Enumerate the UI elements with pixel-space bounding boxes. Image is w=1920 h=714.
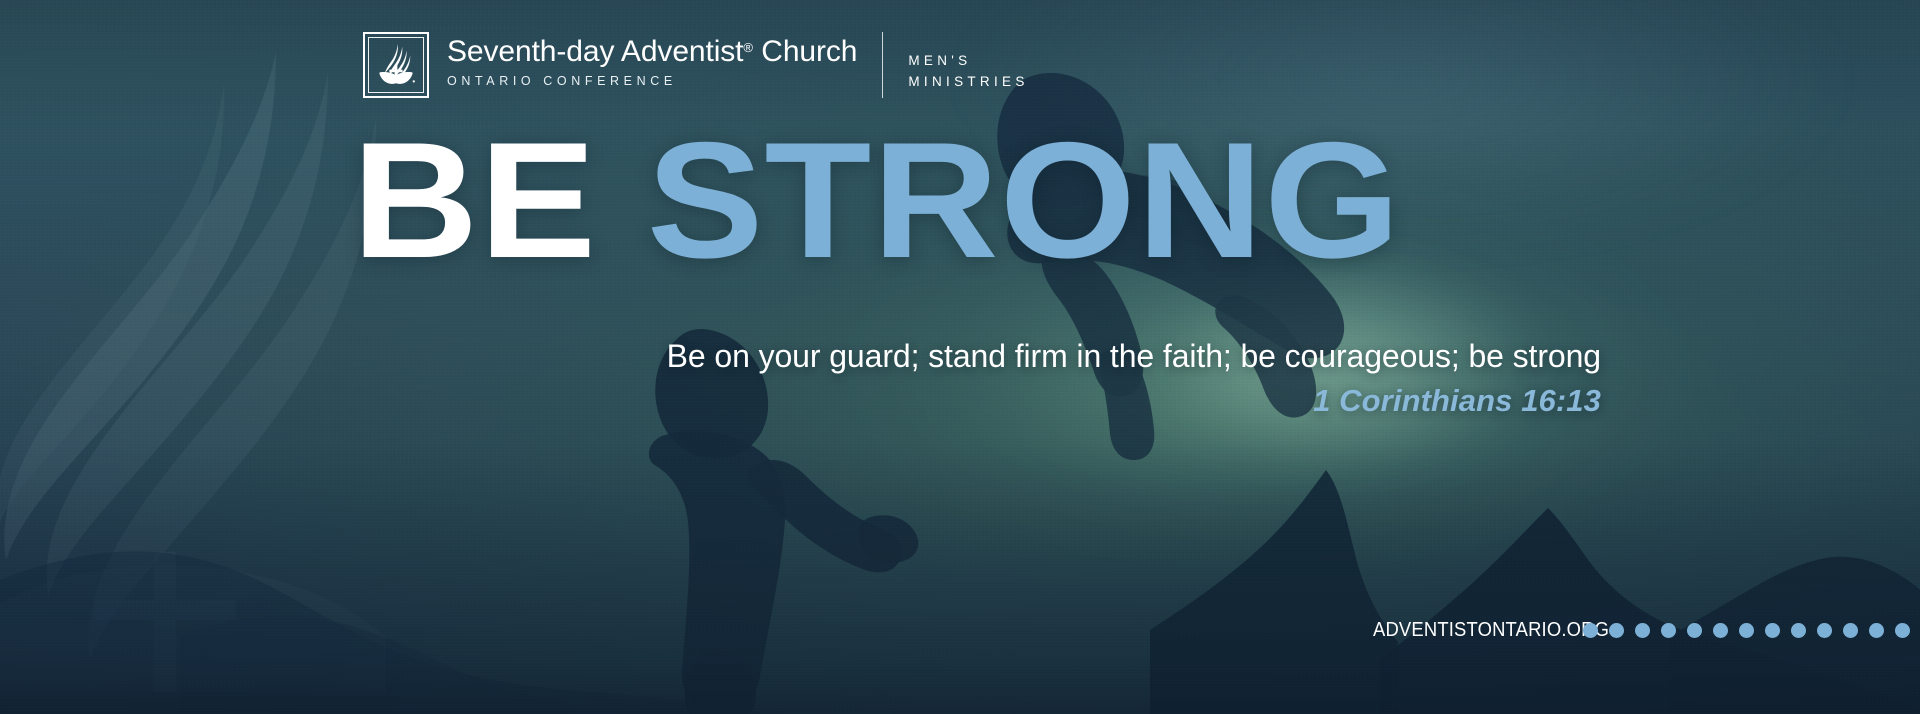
decorative-dot bbox=[1583, 623, 1598, 638]
scripture-reference: 1 Corinthians 16:13 bbox=[0, 383, 1601, 419]
decorative-dot bbox=[1895, 623, 1910, 638]
decorative-dot bbox=[1687, 623, 1702, 638]
banner-content: Seventh-day Adventist® Church ONTARIO CO… bbox=[0, 0, 1920, 714]
decorative-dot bbox=[1843, 623, 1858, 638]
logo-title-suffix: Church bbox=[761, 35, 857, 68]
page-title: BE STRONG bbox=[352, 118, 1401, 283]
website-url[interactable]: ADVENTISTONTARIO.ORG bbox=[1373, 618, 1609, 642]
decorative-dot bbox=[1661, 623, 1676, 638]
decorative-dot bbox=[1635, 623, 1650, 638]
logo-subtitle: ONTARIO CONFERENCE bbox=[447, 75, 857, 88]
be-strong-banner: Seventh-day Adventist® Church ONTARIO CO… bbox=[0, 0, 1920, 714]
logo-title: Seventh-day Adventist® Church bbox=[447, 37, 857, 67]
scripture-text: Be on your guard; stand firm in the fait… bbox=[0, 338, 1601, 376]
decorative-dot-row bbox=[1583, 618, 1910, 642]
logo-divider bbox=[882, 32, 883, 98]
logo-title-main: Seventh-day Adventist bbox=[447, 35, 743, 68]
headline-word-be: BE bbox=[352, 108, 597, 292]
ministry-line-2: MINISTRIES bbox=[908, 72, 1028, 93]
logo-lockup: Seventh-day Adventist® Church ONTARIO CO… bbox=[363, 32, 1029, 104]
decorative-dot bbox=[1791, 623, 1806, 638]
footer-bar: ADVENTISTONTARIO.ORG bbox=[0, 618, 1920, 642]
ministry-label: MEN'S MINISTRIES bbox=[908, 32, 1028, 92]
decorative-dot bbox=[1713, 623, 1728, 638]
decorative-dot bbox=[1817, 623, 1832, 638]
decorative-dot bbox=[1765, 623, 1780, 638]
decorative-dot bbox=[1609, 623, 1624, 638]
ministry-line-1: MEN'S bbox=[908, 51, 1028, 72]
decorative-dot bbox=[1869, 623, 1884, 638]
adventist-flame-bible-cross-icon bbox=[363, 32, 429, 98]
decorative-dot bbox=[1739, 623, 1754, 638]
logo-wordmark: Seventh-day Adventist® Church ONTARIO CO… bbox=[447, 32, 857, 88]
headline-word-strong: STRONG bbox=[647, 108, 1402, 292]
registered-trademark-icon: ® bbox=[743, 40, 753, 55]
